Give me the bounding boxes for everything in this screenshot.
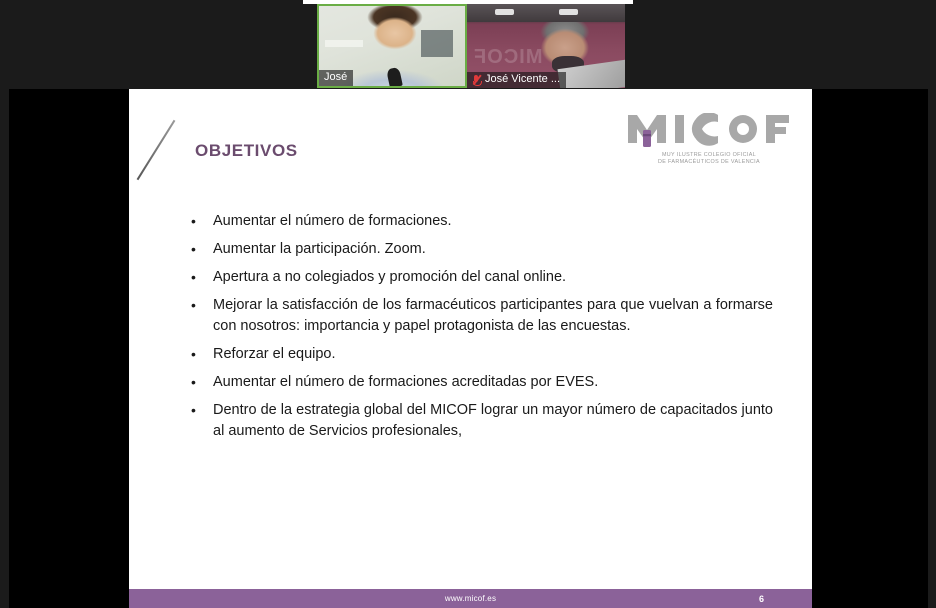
video-background-detail: [325, 40, 363, 47]
participant-name-bar: José Vicente ...: [467, 72, 566, 88]
zoom-screen-share-window: José MICOF José Vicente ...: [0, 0, 936, 608]
mic-muted-icon: [472, 74, 481, 86]
bullet-text: Aumentar el número de formaciones acredi…: [213, 372, 773, 393]
list-item: • Aumentar el número de formaciones.: [191, 211, 773, 232]
bullet-text: Aumentar el número de formaciones.: [213, 211, 773, 232]
background-wall-logo-text: MICOF: [473, 46, 542, 69]
slide-footer: www.micof.es 6: [129, 589, 812, 608]
slide-header: OBJETIVOS: [129, 89, 812, 199]
participant-tile-jose-vicente[interactable]: MICOF José Vicente ...: [467, 4, 625, 88]
participant-tile-jose[interactable]: José: [317, 4, 467, 88]
bullet-marker: •: [191, 239, 213, 260]
bullet-marker: •: [191, 211, 213, 232]
list-item: • Dentro de la estrategia global del MIC…: [191, 400, 773, 442]
video-background-detail: [467, 4, 625, 22]
bullet-marker: •: [191, 400, 213, 421]
title-slash-accent-icon: [137, 120, 176, 180]
bullet-text: Reforzar el equipo.: [213, 344, 773, 365]
list-item: • Mejorar la satisfacción de los farmacé…: [191, 295, 773, 337]
presentation-slide: OBJETIVOS: [129, 89, 812, 608]
participant-filmstrip: José MICOF José Vicente ...: [0, 0, 936, 89]
list-item: • Apertura a no colegiados y promoción d…: [191, 267, 773, 288]
list-item: • Aumentar el número de formaciones acre…: [191, 372, 773, 393]
bullet-marker: •: [191, 295, 213, 316]
micof-logo-subtitle: MUY ILUSTRE COLEGIO OFICIAL DE FARMACÉUT…: [623, 152, 795, 166]
participant-name-bar: José: [319, 70, 353, 86]
bullet-text: Dentro de la estrategia global del MICOF…: [213, 400, 773, 442]
ceiling-light: [495, 9, 514, 15]
bullet-text: Mejorar la satisfacción de los farmacéut…: [213, 295, 773, 337]
video-background-detail: [421, 30, 453, 57]
microphone-object: [386, 67, 403, 88]
footer-website-url: www.micof.es: [445, 594, 496, 603]
slide-title: OBJETIVOS: [195, 141, 298, 161]
ceiling-light: [559, 9, 578, 15]
micof-logo: MUY ILUSTRE COLEGIO OFICIAL DE FARMACÉUT…: [623, 113, 795, 166]
list-item: • Reforzar el equipo.: [191, 344, 773, 365]
bullet-text: Apertura a no colegiados y promoción del…: [213, 267, 773, 288]
bullet-marker: •: [191, 372, 213, 393]
participant-name-label: José Vicente ...: [485, 73, 560, 86]
bullet-text: Aumentar la participación. Zoom.: [213, 239, 773, 260]
list-item: • Aumentar la participación. Zoom.: [191, 239, 773, 260]
bullet-marker: •: [191, 344, 213, 365]
slide-bullet-list: • Aumentar el número de formaciones. • A…: [191, 211, 773, 449]
participant-name-label: José: [324, 71, 347, 84]
bullet-marker: •: [191, 267, 213, 288]
slide-page-number: 6: [759, 594, 764, 604]
micof-wordmark-icon: [623, 113, 795, 149]
